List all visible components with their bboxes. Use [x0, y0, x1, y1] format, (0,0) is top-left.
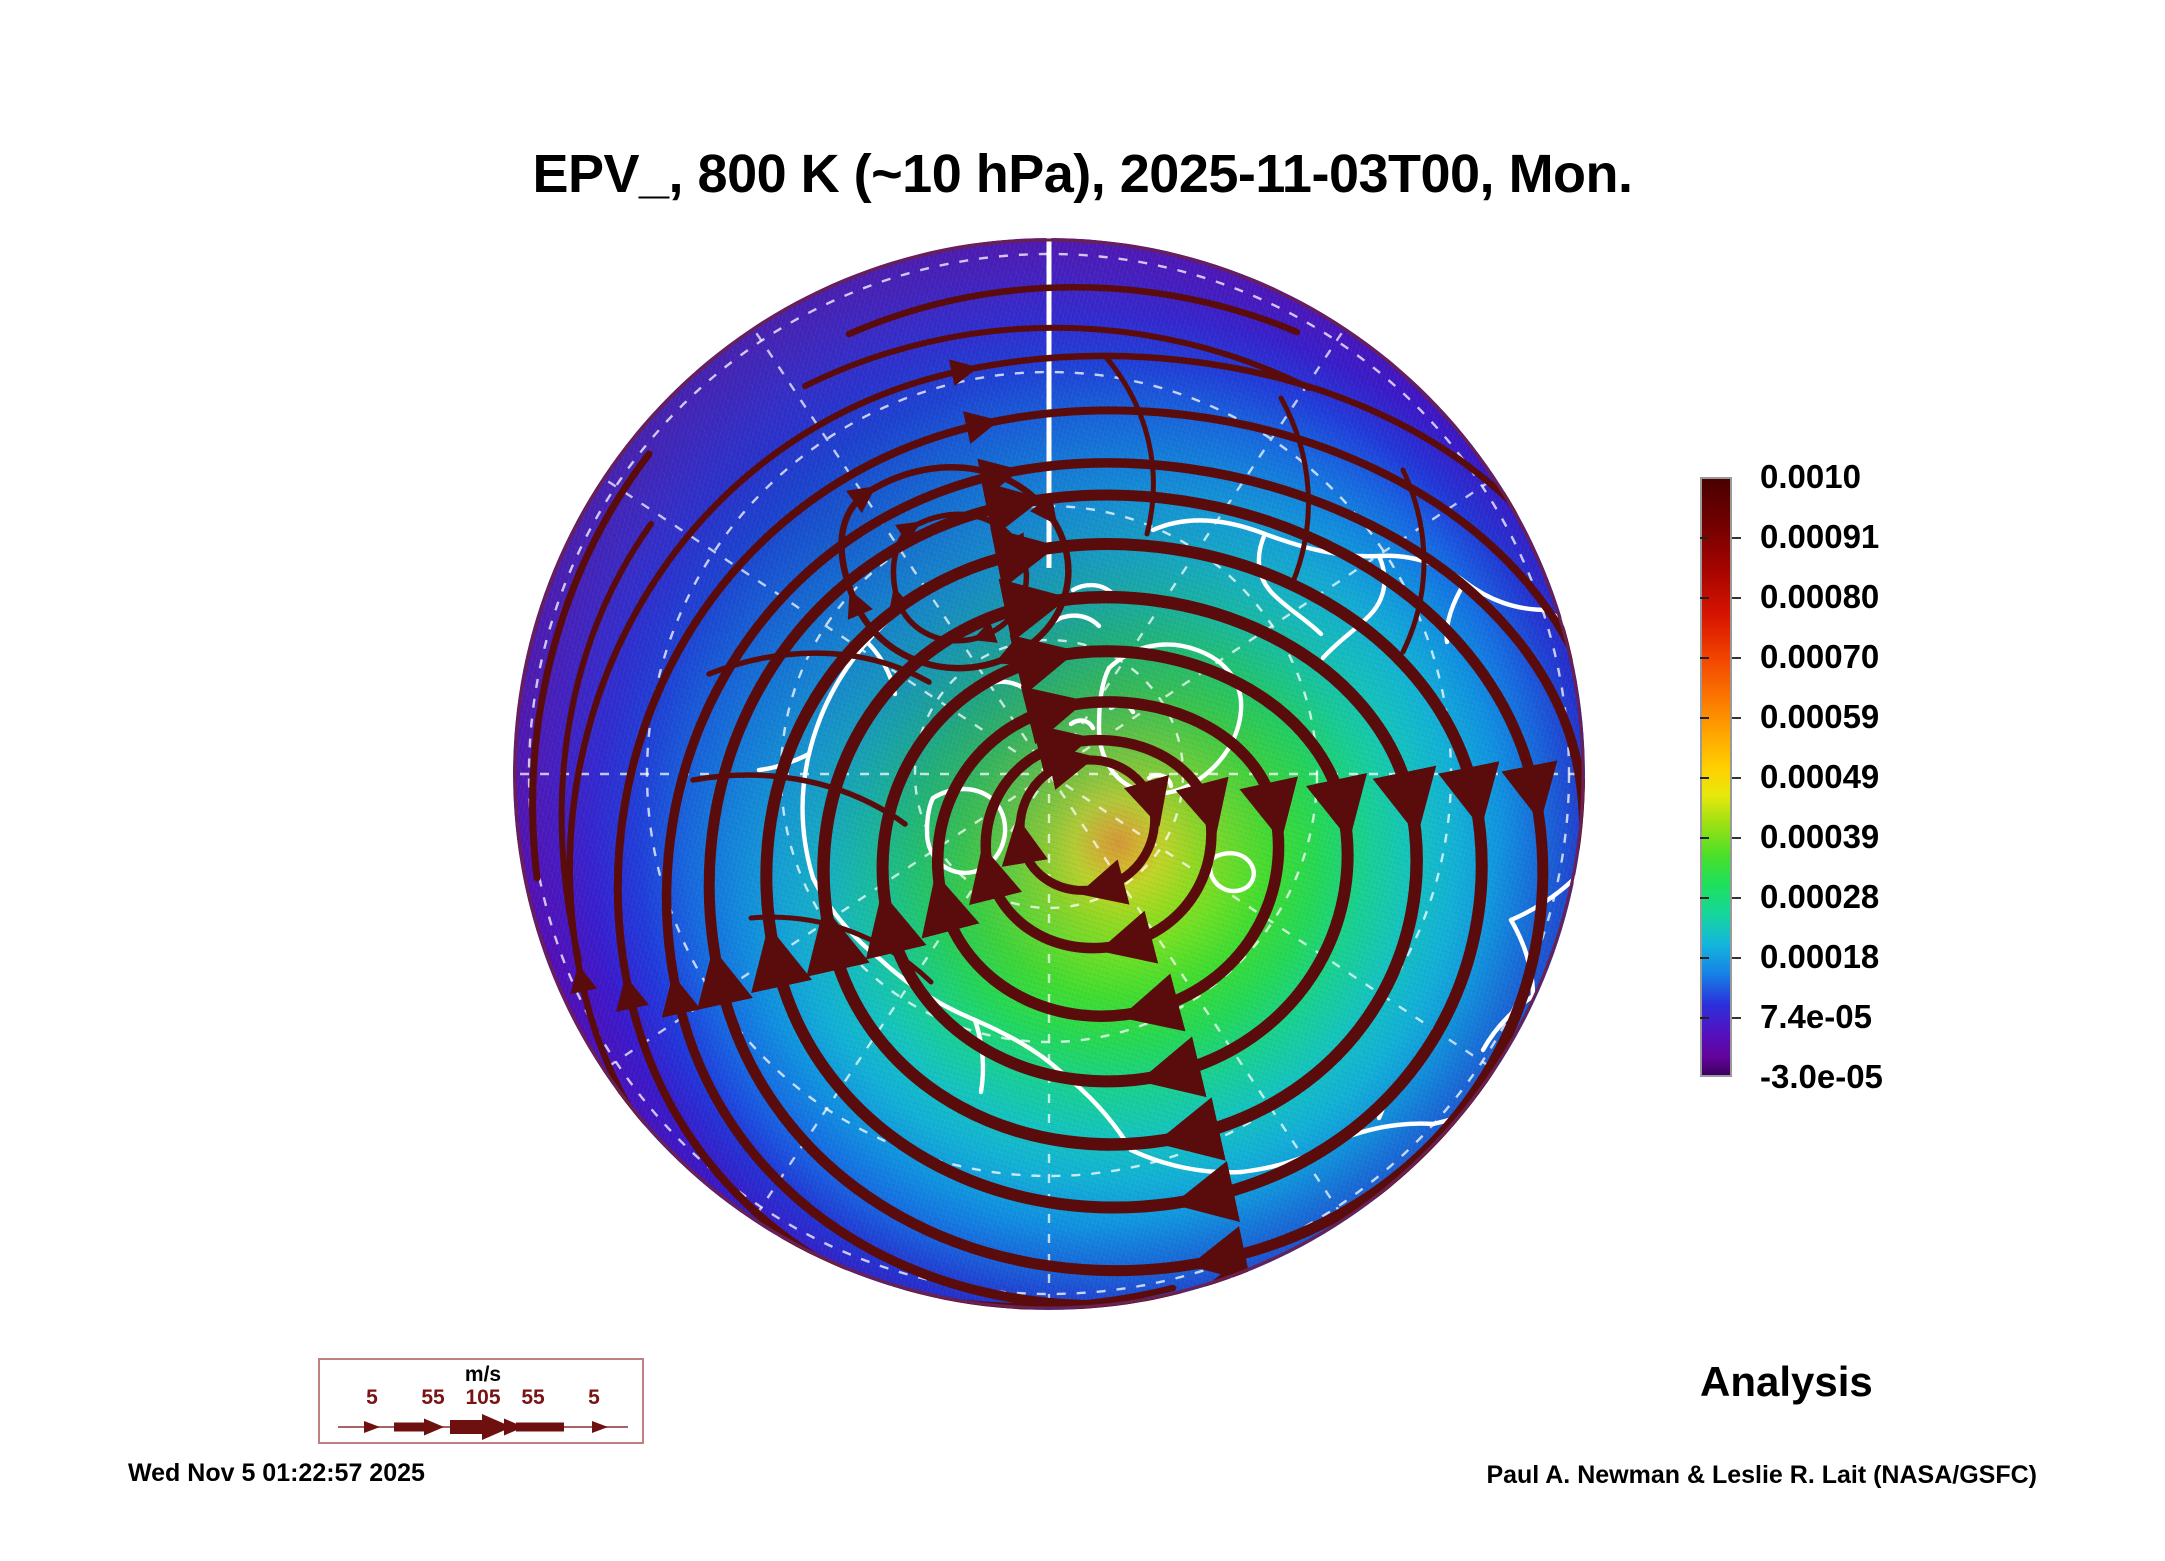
- polar-map: [513, 238, 1585, 1310]
- wind-legend-value: 55: [421, 1386, 444, 1410]
- generation-timestamp: Wed Nov 5 01:22:57 2025: [128, 1459, 425, 1488]
- colorbar-tick-inner: [1700, 657, 1709, 659]
- wind-legend-value: 5: [588, 1386, 600, 1410]
- colorbar-label: 0.00018: [1760, 938, 1879, 976]
- colorbar-label: 7.4e-05: [1760, 998, 1872, 1036]
- colorbar-tick-inner: [1700, 717, 1709, 719]
- colorbar: 0.00100.000910.000800.000700.000590.0004…: [1700, 477, 2120, 1077]
- colorbar-tick: [1732, 717, 1741, 719]
- colorbar-tick-inner: [1700, 957, 1709, 959]
- wind-legend-value: 5: [366, 1386, 378, 1410]
- colorbar-tick: [1732, 597, 1741, 599]
- wind-legend-units: m/s: [320, 1363, 646, 1387]
- wind-speed-legend: m/s 555105555: [318, 1358, 644, 1444]
- colorbar-tick-inner: [1700, 897, 1709, 899]
- colorbar-label: 0.00080: [1760, 578, 1879, 616]
- colorbar-label: 0.00070: [1760, 638, 1879, 676]
- colorbar-label: 0.00059: [1760, 698, 1879, 736]
- page-title: EPV_, 800 K (~10 hPa), 2025-11-03T00, Mo…: [0, 143, 2165, 205]
- wind-legend-value: 55: [521, 1386, 544, 1410]
- colorbar-tick: [1732, 897, 1741, 899]
- colorbar-tick: [1732, 537, 1741, 539]
- colorbar-label: 0.00028: [1760, 878, 1879, 916]
- colorbar-tick: [1732, 1017, 1741, 1019]
- colorbar-label: -3.0e-05: [1760, 1058, 1883, 1096]
- colorbar-tick-inner: [1700, 777, 1709, 779]
- colorbar-tick-inner: [1700, 837, 1709, 839]
- colorbar-tick: [1732, 837, 1741, 839]
- colorbar-tick: [1732, 657, 1741, 659]
- colorbar-tick: [1732, 777, 1741, 779]
- wind-legend-value: 105: [465, 1386, 500, 1410]
- colorbar-label: 0.0010: [1760, 458, 1861, 496]
- colorbar-label: 0.00091: [1760, 518, 1879, 556]
- colorbar-tick-inner: [1700, 1017, 1709, 1019]
- streamlines: [533, 287, 1623, 1340]
- author-credit: Paul A. Newman & Leslie R. Lait (NASA/GS…: [1486, 1461, 2037, 1490]
- analysis-label: Analysis: [1700, 1358, 1873, 1406]
- map-overlays: [513, 238, 1585, 1310]
- colorbar-tick: [1732, 957, 1741, 959]
- colorbar-label: 0.00049: [1760, 758, 1879, 796]
- colorbar-tick-inner: [1700, 597, 1709, 599]
- wind-legend-arrows: [320, 1412, 646, 1442]
- colorbar-label: 0.00039: [1760, 818, 1879, 856]
- colorbar-tick-inner: [1700, 537, 1709, 539]
